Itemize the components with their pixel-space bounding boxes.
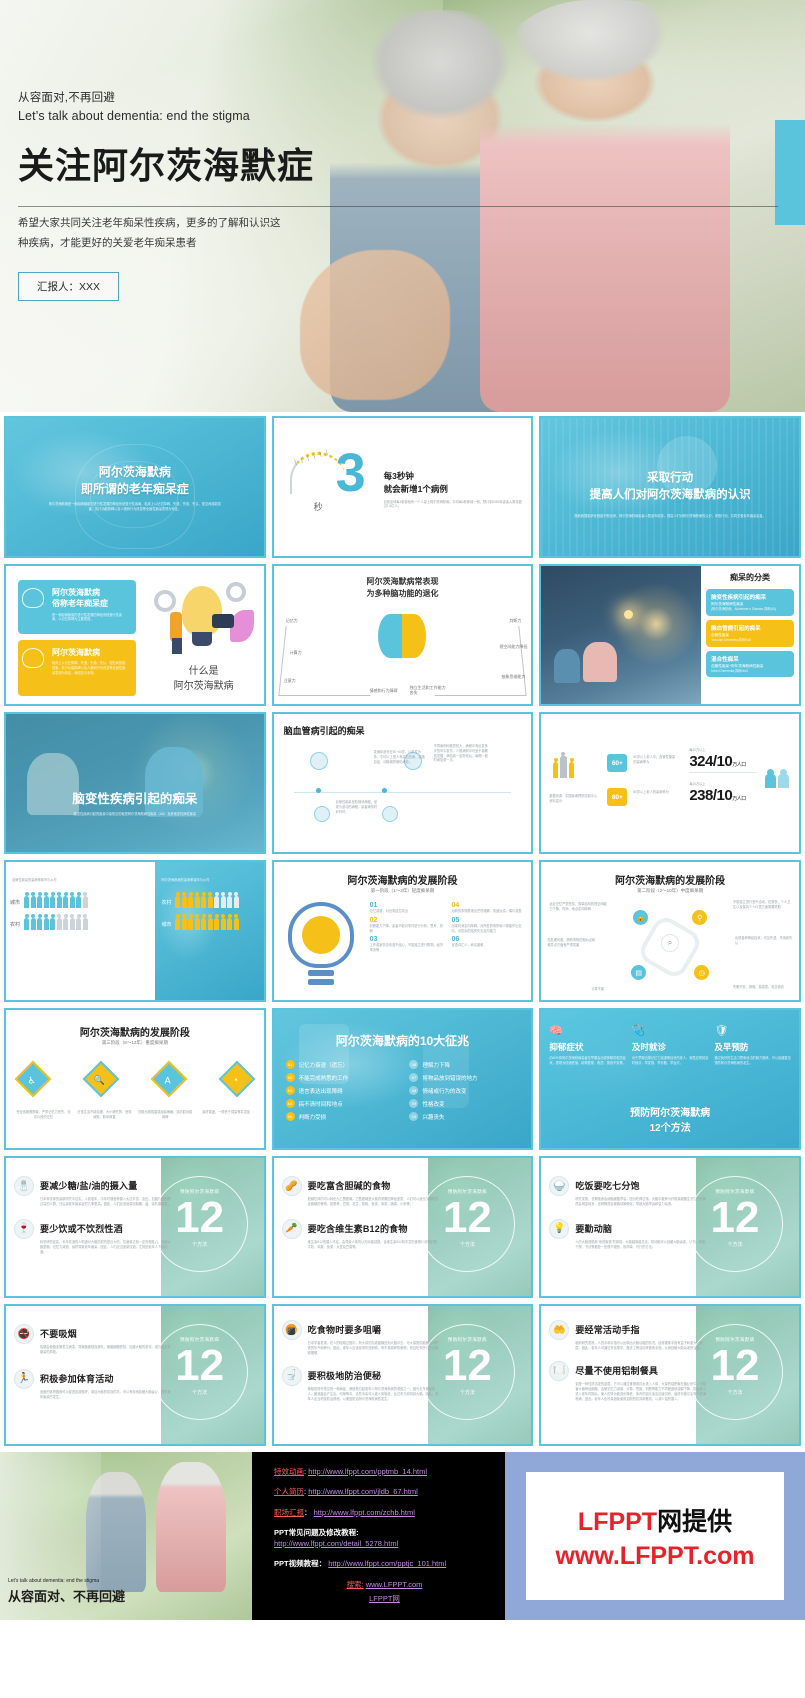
col-body: 约40%的阿尔茨海默病患者在早期会出现抑郁的相关症状，表现为情绪低落、精神萎靡、… (549, 1056, 626, 1066)
footer-faq-row[interactable]: PPT常见问题及修改教程: http://www.lfppt.com/detai… (274, 1527, 495, 1550)
sign-text: 记忆力衰退（遗忘） (299, 1061, 349, 1069)
stage2-item-5: 计算不能 (591, 987, 625, 992)
left-row-1-icons (24, 896, 88, 908)
stage-item: 03工作或家务劳动漫不经心，不能独立进行购物、经济事务等 (370, 936, 444, 953)
stage-item: 05出现时间定向障碍，对所处的场所和人物能作出定向，对复杂的结构失去定向能力 (451, 917, 525, 934)
slide-stage-1[interactable]: 阿尔茨海默病的发展阶段 第一阶段（1～3年）轻度痴呆期 01记忆减退，对近事遗忘… (272, 860, 534, 1002)
tip-block: 🥕 要吃含维生素B12的食物维生素B12的摄入不足，会导致人体的认知功能减退。含… (282, 1219, 442, 1250)
tip-heading: 要吃含维生素B12的食物 (308, 1224, 408, 1234)
salt-icon: 🧂 (14, 1176, 34, 1196)
tip-block: 🍽️ 尽量不使用铝制餐具铝是一种性质活泼的金属，它可以通过食物或饮水进入人体，大… (549, 1361, 709, 1402)
type-1-en: (阿尔茨海默病，Alzheimer's Disease,简称AD) (711, 607, 789, 612)
slide-tip-02[interactable]: 🥜 要吃富含胆碱的食物胆碱在体内可以转化为乙酰胆碱，乙酰胆碱是大脑内重要的神经递… (272, 1156, 534, 1298)
type-card-1: 脑变性疾病引起的痴呆 阿尔茨海默病性痴呆 (阿尔茨海默病，Alzheimer's… (706, 589, 794, 616)
tip-heading: 要积极地防治便秘 (308, 1371, 382, 1381)
note-2: 血管性痴呆呈阶梯状病程，呈现为波动的病程，患者病情时好时坏。 (336, 800, 380, 814)
slide-stage-3[interactable]: 阿尔茨海默病的发展阶段 第三阶段（8～12年）重度痴呆期 ♿ 🔍 A ◔ 完全依… (4, 1008, 266, 1150)
right-row-1-icons (175, 896, 239, 908)
label-bottom-1: 情感和行为障碍 (370, 688, 404, 694)
age-badge-60: 60+ (607, 754, 627, 772)
left-row-2-icons (24, 918, 88, 930)
caption-line2: 阿尔茨海默病 (156, 680, 252, 695)
tip-heading: 要吃富含胆碱的食物 (308, 1181, 391, 1191)
wine-icon: 🍷 (14, 1219, 34, 1239)
stat-line2: 就会新增1个病例 (384, 483, 524, 496)
tip-block: 🧂 要减少糖/盐/油的摄入量日本科学家的最新研究中证实，人到老年，中年时期营养摄… (14, 1176, 174, 1207)
footer-link-row[interactable]: 职场汇报： http://www.lfppt.com/zchb.html (274, 1507, 495, 1518)
slide-stage-2[interactable]: 阿尔茨海默病的发展阶段 第二阶段（2～10年）中度痴呆期 ⌕ 🔒 ⚲ ▤ ◷ 远… (539, 860, 801, 1002)
card1-line2: 俗称老年痴呆症 (52, 599, 128, 610)
card1-body: 是一种起病隐匿的进行性发展的神经系统退行性疾病，以记忆障碍为主要表现。 (52, 613, 128, 623)
sign-num: 03 (286, 1086, 295, 1095)
link-url[interactable]: http://www.lfppt.com/jldb_67.html (308, 1487, 418, 1496)
link-sep: : (304, 1487, 306, 1496)
timeline-node-4 (382, 806, 398, 822)
link-sep: : (304, 1467, 306, 1476)
no-smoking-icon: 🚭 (14, 1324, 34, 1344)
footer-bar: Let's talk about dementia: end the stigm… (0, 1452, 805, 1620)
stage-item-num: 02 (370, 917, 444, 924)
tip-block: 🏃 积极参加体育活动适度的体育锻炼可以促进血液循环，增加大脑的供血供氧，可以有效… (14, 1369, 174, 1400)
tip-heading: 积极参加体育活动 (40, 1374, 114, 1384)
logo-card: LFPPT网提供 www.LFPPT.com (526, 1472, 784, 1600)
slide-urban-rural[interactable]: 血管性痴呆的患病率城市与乡村 城市 农村 阿尔茨海默病的患病率城市与乡村 农村 (4, 860, 266, 1002)
timeline-node-1 (310, 752, 328, 770)
search-cn[interactable]: LFPPT网 (274, 1593, 495, 1604)
slide-tip-04[interactable]: 🚭 不要吸烟吸烟会使脑血管发生病变，导致脑部缺血缺氧，使脑细胞受损，加速大脑的老… (4, 1304, 266, 1446)
sign-num: 02 (286, 1073, 295, 1082)
footer-caption-cn: 从容面对、不再回避 (8, 1589, 125, 1604)
slide-title: 痴呆的分类 (706, 572, 794, 583)
logo-line-1: LFPPT网提供 (578, 1502, 732, 1538)
prevention-col: 🩺 及时就诊 对于早期出现记忆力减退等症状的老人，家属应带其及时就诊，早发现、早… (632, 1024, 709, 1066)
slide-dementia-types[interactable]: 痴呆的分类 脑变性疾病引起的痴呆 阿尔茨海默病性痴呆 (阿尔茨海默病，Alzhe… (539, 564, 801, 706)
slide-thumbnail-grid: 阿尔茨海默病 即所谓的老年痴呆症 阿尔茨海默病是一种起病隐匿的进行性发展的神经系… (0, 412, 805, 1446)
stat-value-1: 324/10 (689, 753, 732, 770)
tip-block: 🚭 不要吸烟吸烟会使脑血管发生病变，导致脑部缺血缺氧，使脑细胞受损，加速大脑的老… (14, 1324, 174, 1355)
prevention-col: 🧠 抑郁症状 约40%的阿尔茨海默病患者在早期会出现抑郁的相关症状，表现为情绪低… (549, 1024, 626, 1066)
label-left-1: 记忆力 (286, 618, 298, 624)
note-1: 发病年龄多在50~60岁，以男性为多，平均以上男人有高血压病、高脂血症、动脉粥样… (374, 750, 426, 764)
plate-icon: 🍽️ (549, 1361, 569, 1381)
stethoscope-icon: 🩺 (632, 1024, 709, 1037)
link-label: 特效动画 (274, 1467, 304, 1476)
sign-text: 语言表达出现障碍 (299, 1087, 343, 1095)
stat-value-2: 238/10 (689, 787, 732, 804)
tip-heading: 不要吸烟 (40, 1329, 77, 1339)
tip-block: 🤲 要经常活动手指脑科研究发现，人的手和手指可以反映出大脑功能的情况，经常锻炼手… (549, 1320, 709, 1351)
slide-three-seconds[interactable]: |||||| 3 秒 每3秒钟 就会新增1个病例 目前全球每3秒钟就有一个人患上… (272, 416, 534, 558)
col-heading: 及时就诊 (632, 1041, 709, 1053)
sign-num: 08 (409, 1086, 418, 1095)
footer-video-row[interactable]: PPT视频教程： http://www.lfppt.com/pptjc_101.… (274, 1558, 495, 1569)
left-row-1-label: 城市 (10, 899, 20, 906)
tip-block: 🥜 要吃富含胆碱的食物胆碱在体内可以转化为乙酰胆碱，乙酰胆碱是大脑内重要的神经递… (282, 1176, 442, 1207)
sign-text: 兴趣丧失 (422, 1113, 444, 1121)
stat-body: 目前全球每3秒钟就有一个人患上阿尔茨海默病，平均每3秒新增一例。预计到2050年… (384, 500, 524, 510)
cover-description: 希望大家共同关注老年痴呆性疾病，更多的了解和认识这种疾病，才能更好的关爱老年痴呆… (18, 213, 283, 254)
stat-source: 数据来源：中国疾病预防控制中心资料显示： (549, 794, 597, 804)
link-label: 职场汇报 (274, 1508, 304, 1517)
stage3-item-2: 日常生活不能自理，大小便失禁，呈现缄默、肢体僵直 (77, 1110, 132, 1120)
footer-caption: Let's talk about dementia: end the stigm… (8, 1578, 125, 1606)
slide-tip-06[interactable]: 🤲 要经常活动手指脑科研究发现，人的手和手指可以反映出大脑功能的情况，经常锻炼手… (539, 1304, 801, 1446)
slide-tip-01[interactable]: 🧂 要减少糖/盐/油的摄入量日本科学家的最新研究中证实，人到老年，中年时期营养摄… (4, 1156, 266, 1298)
bulb-brain-icon (288, 902, 354, 968)
slide-brain-intro[interactable]: 阿尔茨海默病 即所谓的老年痴呆症 阿尔茨海默病是一种起病隐匿的进行性发展的神经系… (4, 416, 266, 558)
stage-item-text: 言语词汇少，命名困难 (451, 943, 525, 948)
type-2-name: 脑血管病引起的痴呆 (711, 624, 789, 632)
stage-item-text: 记忆减退，对近事遗忘突出 (370, 909, 444, 914)
cover-kicker: 从容面对,不再回避 Let’s talk about dementia: end… (18, 90, 358, 125)
note-3: 不同病例间差异较大，病程中有反复多次的卒中发作，少数病例中可呈不易察觉发展，病情… (434, 744, 490, 763)
slide-title-line2: 为多种脑功能的退化 (274, 588, 532, 600)
logo-line-2: www.LFPPT.com (555, 1542, 754, 1571)
rice-bowl-icon: 🍚 (549, 1176, 569, 1196)
tip-heading: 要经常活动手指 (575, 1325, 639, 1335)
stage-item: 02判断能力下降，患者不能对事件进行分析、思考、判断 (370, 917, 444, 934)
badge-caption-2: 个方法 (420, 1389, 514, 1396)
footer-link-row[interactable]: 特效动画: http://www.lfppt.com/pptmb_14.html (274, 1466, 495, 1477)
slide-sub: 第一阶段（1～3年）轻度痴呆期 (274, 888, 532, 894)
stat-unit: 秒 (314, 500, 323, 513)
label-right-1: 判断力 (509, 618, 521, 624)
chewing-icon: 🍘 (282, 1320, 302, 1340)
right-row-2-icons (175, 918, 239, 930)
diamond-row: ♿ 🔍 A ◔ (20, 1066, 250, 1092)
hexagon-diagram: ⌕ 🔒 ⚲ ▤ ◷ (637, 916, 703, 978)
slide-body: 阿尔茨海默病是一种起病隐匿的进行性发展的神经系统退行性疾病。临床上以记忆障碍、失… (6, 502, 264, 512)
badge-number: 12 (153, 1345, 247, 1387)
badge-12-methods: 预防阿尔茨海默病 12 个方法 (419, 1176, 515, 1272)
slide-sub: 脑变性疾病引起的痴呆中最常见的就是阿尔茨海默病性痴呆（AD）及其他变性病性痴呆 (6, 812, 264, 817)
slide-tip-05[interactable]: 🍘 吃食物时要多咀嚼日本学者发现，在人的咀嚼过程中，有大量的血液被输送到大脑中去… (272, 1304, 534, 1446)
sign-num: 10 (409, 1112, 418, 1121)
slide-title-line1: 采取行动 (541, 470, 799, 487)
sign-num: 01 (286, 1060, 295, 1069)
logo-suffix: 网提供 (657, 1508, 732, 1536)
sign-text: 性格改变 (422, 1100, 444, 1108)
footer-logo-panel: LFPPT网提供 www.LFPPT.com (505, 1452, 805, 1620)
diamond-icon-3: A (150, 1061, 187, 1098)
lightbulb-icon: 💡 (549, 1219, 569, 1239)
col-heading: 抑郁症状 (549, 1041, 626, 1053)
search-url[interactable]: www.LFPPT.com (366, 1580, 423, 1589)
cover-kicker-en: Let’s talk about dementia: end the stigm… (18, 107, 358, 125)
sign-text: 情绪或行为的改变 (422, 1087, 466, 1095)
sign-num: 09 (409, 1099, 418, 1108)
card2-body: 临床上以记忆障碍、失语、失用、失认、视空间技能损害、执行功能障碍以及人格和行为改… (52, 661, 128, 675)
cover-accent-bar (775, 120, 805, 225)
stat-line1: 每3秒钟 (384, 470, 524, 483)
badge-number: 12 (420, 1345, 514, 1387)
badge-caption-2: 个方法 (153, 1241, 247, 1248)
stage-item: 06言语词汇少，命名困难 (451, 936, 525, 953)
footer-link-row[interactable]: 个人简历: http://www.lfppt.com/jldb_67.html (274, 1486, 495, 1497)
prevention-title-line1: 预防阿尔茨海默病 (541, 1106, 799, 1121)
stage-item-num: 01 (370, 902, 444, 909)
faq-label: PPT常见问题及修改教程: (274, 1528, 359, 1537)
tip-heading: 尽量不使用铝制餐具 (575, 1366, 658, 1376)
slide-brain-functions[interactable]: 阿尔茨海默病常表现 为多种脑功能的退化 记忆力 计算力 注意力 判断力 视空间能… (272, 564, 534, 706)
sign-num: 04 (286, 1099, 295, 1108)
branch-left (278, 626, 377, 696)
slide-body: 随着我国老龄化程度不断加深，阿尔茨海默病患者人数逐年增多。提高人们对阿尔茨海默病… (541, 514, 799, 519)
type-card-2: 脑血管病引起的痴呆 血管性痴呆 Vascular Dementia,简称VaD (706, 620, 794, 647)
slide-title: 阿尔茨海默病的发展阶段 (274, 872, 532, 887)
slide-title: 脑血管病引起的痴呆 (284, 724, 365, 737)
sign-text: 判断力受损 (299, 1113, 327, 1121)
stat-desc-2: 80岁以上老人的患病率为 (633, 790, 677, 795)
logo-lfppt: LFPPT (578, 1508, 657, 1536)
timeline-axis (294, 792, 512, 793)
slide-degenerative-dementia[interactable]: 脑变性疾病引起的痴呆 脑变性疾病引起的痴呆中最常见的就是阿尔茨海默病性痴呆（AD… (4, 712, 266, 854)
tip-heading: 吃饭要吃七分饱 (575, 1181, 639, 1191)
tip-block: 🍷 要少饮或不饮烈性酒科学研究证实，长年饮酒的人喝酒对大脑的损伤是巨大的，饮酒量… (14, 1219, 174, 1255)
type-card-3: 混合性痴呆 血管性痴呆+阿尔茨海默病性痴呆 Mixed Dementia,简称M… (706, 651, 794, 678)
right-row-1-label: 农村 (161, 899, 171, 906)
slide-caption: 什么是 阿尔茨海默病 (156, 665, 252, 694)
sign-text: 将物品放到错误的地方 (422, 1074, 477, 1082)
faq-url[interactable]: http://www.lfppt.com/detail_5278.html (274, 1539, 398, 1548)
badge-number: 12 (153, 1197, 247, 1239)
stage-item-text: 判断能力下降，患者不能对事件进行分析、思考、判断 (370, 924, 444, 934)
slide-take-action[interactable]: 采取行动 提高人们对阿尔茨海默病的认识 随着我国老龄化程度不断加深，阿尔茨海默病… (539, 416, 801, 558)
couple-icon (765, 774, 789, 788)
stage-item-num: 04 (451, 902, 525, 909)
type-3-name: 混合性痴呆 (711, 655, 789, 663)
slide-title: 阿尔茨海默病的10大征兆 (274, 1032, 532, 1049)
slide-prevention-intro[interactable]: 🧠 抑郁症状 约40%的阿尔茨海默病患者在早期会出现抑郁的相关症状，表现为情绪低… (539, 1008, 801, 1150)
stage2-item-1: 远近记忆严重受损，简单结构的视空间能力下降，时间、地点定向障碍 (549, 902, 607, 912)
stat-block-1: 每10万以上 324/10万人口 (689, 748, 757, 773)
sign-num: 06 (409, 1060, 418, 1069)
depression-icon: 🧠 (549, 1024, 626, 1037)
type-2-en: Vascular Dementia,简称VaD (711, 638, 789, 643)
timeline-node-3 (314, 806, 330, 822)
carrot-icon: 🥕 (282, 1219, 302, 1239)
prevention-title-line2: 12个方法 (541, 1121, 799, 1136)
stage-item-text: 出现时间定向障碍，对所处的场所和人物能作出定向，对复杂的结构失去定向能力 (451, 924, 525, 934)
left-caption: 血管性痴呆的患病率城市与乡村 (12, 878, 57, 883)
stage-item-text: 对新的事物表现出茫然难解，情绪淡漠，偶尔激惹 (451, 909, 525, 914)
video-label: PPT视频教程： (274, 1559, 326, 1568)
cover-kicker-cn: 从容面对,不再回避 (18, 90, 358, 107)
col-heading: 及早预防 (714, 1041, 791, 1053)
cover-text-block: 从容面对,不再回避 Let’s talk about dementia: end… (18, 90, 358, 301)
stat-number: 3 (336, 446, 366, 500)
slide-title: 阿尔茨海默病的发展阶段 (541, 872, 799, 887)
badge-caption-2: 个方法 (420, 1241, 514, 1248)
branch-right (428, 626, 527, 696)
slide-title-line2: 提高人们对阿尔茨海默病的认识 (541, 487, 799, 504)
slide-what-is-ad[interactable]: 阿尔茨海默病 俗称老年痴呆症 是一种起病隐匿的进行性发展的神经系统退行性疾病，以… (4, 564, 266, 706)
badge-caption-2: 个方法 (688, 1241, 782, 1248)
stage3-item-1: 完全依赖照顾者，严重记忆力丧失，仅存片段的记忆 (16, 1110, 71, 1120)
left-row-2-label: 农村 (10, 921, 20, 928)
footer-links-panel: 特效动画: http://www.lfppt.com/pptmb_14.html… (252, 1452, 505, 1620)
head-brain-icon (22, 588, 44, 608)
card2-line1: 阿尔茨海默病 (52, 647, 128, 658)
cover-slide: 从容面对,不再回避 Let’s talk about dementia: end… (0, 0, 805, 412)
slide-title: 脑变性疾病引起的痴呆 (6, 788, 264, 807)
right-row-2-label: 城市 (161, 921, 171, 928)
slide-title-line1: 阿尔茨海默病常表现 (274, 576, 532, 588)
sign-num: 07 (409, 1073, 418, 1082)
stage-item-num: 05 (451, 917, 525, 924)
sign-num: 05 (286, 1112, 295, 1121)
tip-block: 🚽 要积极地防治便秘便秘是现代常见的一种病症，便秘是引起老年人阿尔茨海默病的诱因… (282, 1366, 442, 1402)
type-3-en: Mixed Dementia,简称MxD (711, 669, 789, 674)
slide-ten-signs[interactable]: 阿尔茨海默病的10大征兆 01记忆力衰退（遗忘） 06理解力下降 02不能完成熟… (272, 1008, 534, 1150)
stage-item: 01记忆减退，对近事遗忘突出 (370, 902, 444, 914)
footer-caption-en: Let's talk about dementia: end the stigm… (8, 1578, 125, 1584)
col-body: 通过良好的生活习惯和适当的脑力锻炼，可以延缓甚至预防阿尔茨海默病的发生。 (714, 1056, 791, 1066)
col-body: 对于早期出现记忆力减退等症状的老人，家属应带其及时就诊，早发现、早诊断、早治疗。 (632, 1056, 709, 1066)
link-url[interactable]: http://www.lfppt.com/zchb.html (314, 1508, 415, 1517)
slide-title-line2: 即所谓的老年痴呆症 (6, 481, 264, 498)
badge-12-methods: 预防阿尔茨海默病 12 个方法 (152, 1176, 248, 1272)
sign-text: 理解力下降 (422, 1061, 450, 1069)
slide-sub: 第二阶段（2～10年）中度痴呆期 (541, 888, 799, 894)
badge-12-methods: 预防阿尔茨海默病 12 个方法 (687, 1176, 783, 1272)
diamond-icon-2: 🔍 (82, 1061, 119, 1098)
badge-number: 12 (420, 1197, 514, 1239)
video-url[interactable]: http://www.lfppt.com/pptjc_101.html (328, 1559, 446, 1568)
stat-desc-1: 60岁以上老人中，血管性痴呆的患病率为 (633, 755, 677, 765)
exercise-icon: 🏃 (14, 1369, 34, 1389)
head-brain-icon-2 (22, 648, 44, 668)
slide-statistics[interactable]: 数据来源：中国疾病预防控制中心资料显示： 60+ 60岁以上老人中，血管性痴呆的… (539, 712, 801, 854)
blue-overlay (6, 714, 264, 852)
stat-unit-1: 万人口 (732, 762, 746, 768)
slide-vascular-dementia[interactable]: 脑血管病引起的痴呆 发病年龄多在50~60岁，以男性为多，平均以上男人有高血压病… (272, 712, 534, 854)
slide-tip-03[interactable]: 🍚 吃饭要吃七分饱研究发现，长期饱食会使脑细胞早衰，因为吃得过饱，大脑中被称为纤… (539, 1156, 801, 1298)
age-badge-80: 80+ (607, 788, 627, 806)
link-url[interactable]: http://www.lfppt.com/pptmb_14.html (308, 1467, 427, 1476)
toilet-icon: 🚽 (282, 1366, 302, 1386)
diamond-icon-1: ♿ (15, 1061, 52, 1098)
page-title: 关注阿尔茨海默症 (18, 137, 358, 189)
badge-caption-2: 个方法 (153, 1389, 247, 1396)
stage2-item-6: 失眠不安、徘徊、易激惹、攻击倾向 (733, 985, 787, 990)
stat-block-2: 每10万以上 238/10万人口 (689, 782, 745, 804)
people-group-icon (553, 756, 574, 778)
type-1-name: 脑变性疾病引起的痴呆 (711, 593, 789, 601)
caption-line1: 什么是 (156, 665, 252, 680)
stage2-item-2: 不能独立进行室外活动，在穿衣、个人卫生以及保持个人仪表方面需要帮助 (733, 900, 793, 910)
tip-block: 🍘 吃食物时要多咀嚼日本学者发现，在人的咀嚼过程中，有大量的血液被输送到大脑中去… (282, 1320, 442, 1356)
card1-line1: 阿尔茨海默病 (52, 588, 128, 599)
search-label: 搜索: (347, 1580, 364, 1589)
tip-block: 🍚 吃饭要吃七分饱研究发现，长期饱食会使脑细胞早衰，因为吃得过饱，大脑中被称为纤… (549, 1176, 709, 1207)
footer-search-row[interactable]: 搜索: www.LFPPT.com LFPPT网 (274, 1579, 495, 1604)
stat-unit-2: 万人口 (732, 796, 746, 802)
stage2-item-4: 出现各种神经症状，可见失语、失用和失认 (735, 936, 793, 946)
presenter-badge: 汇报人：XXX (18, 272, 119, 301)
badge-caption-2: 个方法 (688, 1389, 782, 1396)
stage-item: 04对新的事物表现出茫然难解，情绪淡漠，偶尔激惹 (451, 902, 525, 914)
badge-12-methods: 预防阿尔茨海默病 12 个方法 (419, 1324, 515, 1420)
diamond-icon-4: ◔ (218, 1061, 255, 1098)
stage3-item-4: 最终昏迷，一般死于感染等并发症 (199, 1110, 254, 1120)
tip-heading: 吃食物时要多咀嚼 (308, 1325, 382, 1335)
shield-icon: 🛡 (714, 1024, 791, 1037)
tip-heading: 要减少糖/盐/油的摄入量 (40, 1181, 137, 1191)
slide-title: 阿尔茨海默病的发展阶段 (6, 1024, 264, 1039)
badge-number: 12 (688, 1345, 782, 1387)
badge-12-methods: 预防阿尔茨海默病 12 个方法 (687, 1324, 783, 1420)
badge-12-methods: 预防阿尔茨海默病 12 个方法 (152, 1324, 248, 1420)
badge-number: 12 (688, 1197, 782, 1239)
sign-text: 不能完成熟悉的工作 (299, 1074, 349, 1082)
hands-icon: 🤲 (549, 1320, 569, 1340)
tip-block: 💡 要勤动脑人的大脑遵循着"用进废退"的原则，大脑越用越灵活。勤动脑可以延缓大脑… (549, 1219, 709, 1250)
tip-heading: 要勤动脑 (575, 1224, 612, 1234)
stage-item-text: 工作或家务劳动漫不经心，不能独立进行购物、经济事务等 (370, 943, 444, 953)
slide-sub: 第三阶段（8～12年）重度痴呆期 (6, 1040, 264, 1046)
stage2-item-3: 在处理问题、辨别事物的相似点和差异点方面有严重损害 (547, 938, 597, 948)
stage3-item-3: 四肢出现强直或屈曲瘫痪，括约肌功能障碍 (138, 1110, 193, 1120)
right-caption: 阿尔茨海默病的患病率城市与乡村 (161, 878, 209, 883)
prevention-col: 🛡 及早预防 通过良好的生活习惯和适当的脑力锻炼，可以延缓甚至预防阿尔茨海默病的… (714, 1024, 791, 1066)
tip-heading: 要少饮或不饮烈性酒 (40, 1224, 123, 1234)
link-label: 个人简历 (274, 1487, 304, 1496)
sign-text: 搞不清时间和地点 (299, 1100, 343, 1108)
brain-two-tone-icon (378, 614, 426, 658)
footer-thumbnail[interactable]: Let's talk about dementia: end the stigm… (0, 1452, 252, 1620)
slide-title-line1: 阿尔茨海默病 (6, 464, 264, 481)
couple-bedroom-photo (541, 566, 701, 704)
illustration-idea (152, 580, 256, 652)
nuts-icon: 🥜 (282, 1176, 302, 1196)
link-sep: ： (304, 1508, 312, 1517)
